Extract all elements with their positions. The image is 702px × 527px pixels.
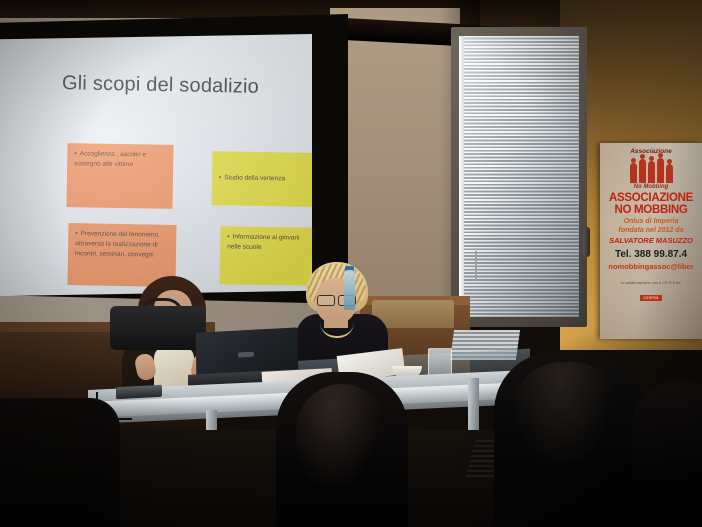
slide-title: Gli scopi del sodalizio — [62, 72, 259, 99]
slide-box-text: Prevenzione del fenomeno, attraverso la … — [75, 230, 160, 258]
banner-email: nomobbingassoc@liber — [600, 262, 702, 271]
banner-partner-logo: CESPIM — [640, 295, 661, 301]
slide-box-text: Accoglienza , ascolto e sostegno alle vi… — [74, 150, 146, 168]
banner-figures-graphic — [600, 157, 702, 183]
conference-room-photo: Gli scopi del sodalizio •Accoglienza , a… — [0, 0, 702, 527]
banner-headline-1: ASSOCIAZIONE — [600, 192, 702, 204]
slide-box-studio: •Studio della vertenza — [212, 151, 312, 207]
banner-line-2: fondata nel 2012 da — [600, 227, 702, 234]
blinds-edge-highlight — [459, 36, 464, 317]
dark-bag — [110, 306, 206, 350]
association-banner: Associazione No Mobbing ASSOCIAZIONE NO … — [600, 143, 702, 339]
laptop-logo — [238, 352, 254, 358]
banner-phone: Tel. 388 99.87.4 — [600, 249, 702, 260]
bullet-icon: • — [227, 233, 229, 240]
window-pane — [459, 36, 579, 317]
window-handle — [583, 227, 590, 257]
audience-center — [276, 372, 408, 527]
hair-sheen — [296, 384, 388, 504]
banner-line-1: Onlus di Imperia — [600, 218, 702, 225]
hair-sheen — [512, 362, 622, 492]
banner-footer-note: In collaborazione con il CE.S.P.IM. — [600, 280, 702, 286]
blinds-light-sheen — [459, 36, 579, 317]
slide-box-text: Studio della vertenza — [224, 173, 285, 184]
audience-right — [494, 352, 644, 527]
banner-headline-2: NO MOBBING — [600, 204, 702, 216]
banner-logo-word: Associazione — [600, 148, 702, 155]
bullet-icon: • — [75, 230, 77, 237]
slide-box-accoglienza: •Accoglienza , ascolto e sostegno alle v… — [66, 143, 173, 209]
slide-box-text: Informazione ai giovani nelle scuole — [227, 233, 299, 251]
bullet-icon: • — [219, 173, 221, 183]
audience-far-right — [632, 380, 702, 527]
banner-founder-name: SALVATORE MASUZZO — [600, 236, 702, 245]
bullet-icon: • — [74, 150, 76, 157]
window-frame — [451, 27, 587, 327]
banner-logo-script: No Mobbing — [600, 184, 702, 190]
water-bottle — [344, 270, 355, 310]
blinds-cord — [475, 251, 477, 281]
projection-screen: Gli scopi del sodalizio •Accoglienza , a… — [0, 34, 312, 296]
audience-left-foreground — [0, 398, 120, 527]
